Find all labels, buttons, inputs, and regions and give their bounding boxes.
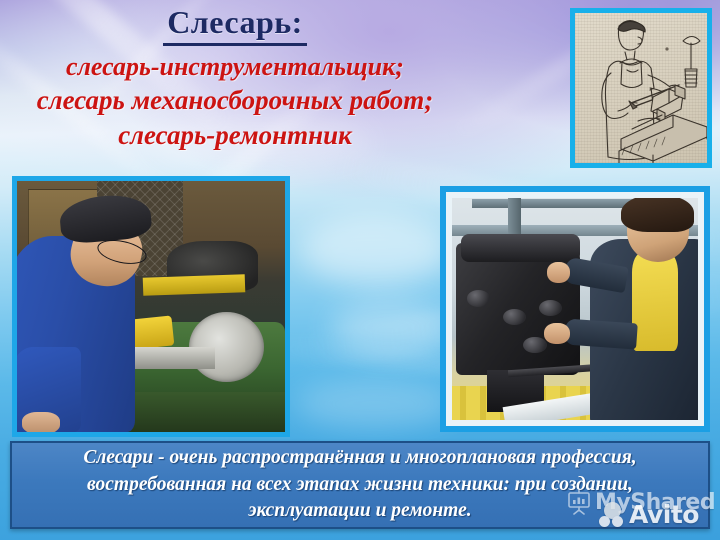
photo-worker-at-lathe <box>17 181 285 432</box>
worker-hand <box>547 262 570 283</box>
worker-hand <box>544 323 570 344</box>
worker-hand <box>22 412 60 432</box>
bench-worker-line-art <box>575 13 707 163</box>
worker-lower-arm <box>564 318 638 349</box>
presentation-slide: Слесарь: слесарь-инструментальщик; слеса… <box>0 0 720 540</box>
caption-line-2: востребованная на всех этапах жизни техн… <box>87 472 633 499</box>
photo-worker-at-lathe-frame <box>12 176 290 437</box>
subtitle-line-1: слесарь-инструментальщик; <box>0 50 470 83</box>
engine-valve-cover <box>461 234 580 262</box>
subtitle-line-3: слесарь-ремонтник <box>0 118 470 153</box>
technical-drawing-image <box>575 13 707 163</box>
engine-fitting <box>467 290 490 306</box>
photo-worker-with-engine <box>446 192 704 426</box>
caption-banner: Слесари - очень распространённая и много… <box>10 441 710 529</box>
lathe-tool-holder <box>135 347 215 370</box>
worker-yellow-shirt <box>632 253 678 351</box>
engine-fitting <box>539 300 562 316</box>
title-block: Слесарь: слесарь-инструментальщик; слеса… <box>0 2 470 152</box>
worker-hair <box>621 194 693 231</box>
photo-worker-with-engine-frame <box>440 186 710 432</box>
caption-line-1: Слесари - очень распространённая и много… <box>83 445 636 472</box>
subtitle-line-2: слесарь механосборочных работ; <box>0 83 470 118</box>
slide-title: Слесарь: <box>163 2 307 46</box>
caption-line-3: эксплуатации и ремонте. <box>248 498 471 525</box>
slide-subtitle: слесарь-инструментальщик; слесарь механо… <box>0 50 470 152</box>
technical-drawing-frame <box>570 8 712 168</box>
engine-fitting <box>523 337 546 353</box>
